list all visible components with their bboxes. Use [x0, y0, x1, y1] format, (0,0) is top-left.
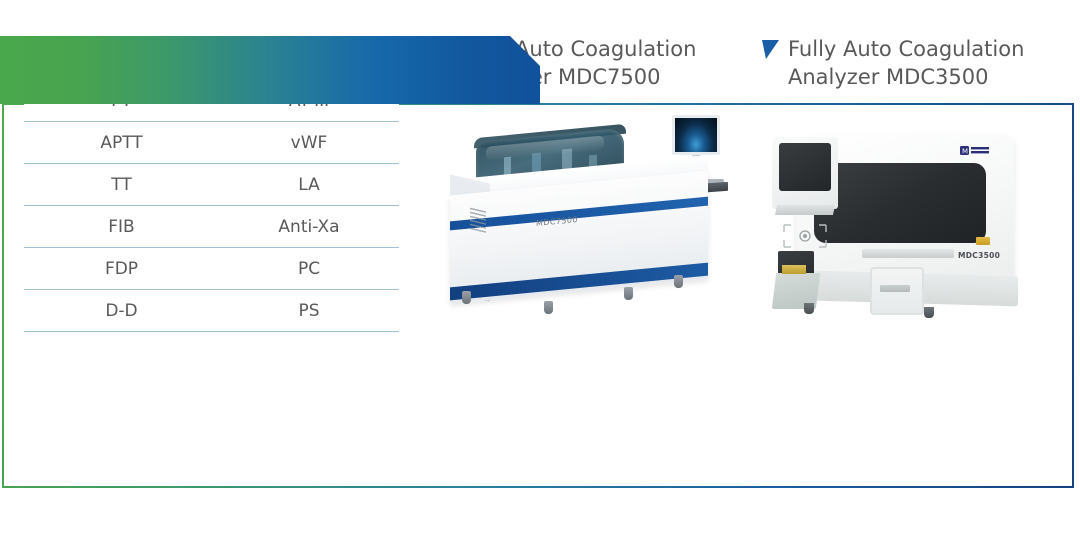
- cell-reagent: LA: [219, 175, 399, 195]
- model-label: MDC3500: [958, 251, 1000, 260]
- monitor-screen-icon: [672, 115, 720, 155]
- cell-coagulation: FDP: [24, 259, 219, 279]
- cell-reagent: Anti-Xa: [219, 217, 399, 237]
- front-door-panel: [814, 163, 986, 243]
- caster-wheel: [624, 287, 633, 300]
- tray-label: [782, 265, 806, 274]
- door-handle: [862, 249, 954, 258]
- cell-coagulation: APTT: [24, 133, 219, 153]
- console-screen-icon: [779, 143, 831, 191]
- table-row: FDP PC: [24, 248, 399, 290]
- table-row: APTT vWF: [24, 122, 399, 164]
- table-row: TT LA: [24, 164, 399, 206]
- caster-wheel: [544, 301, 553, 314]
- blue-flag-icon: [762, 40, 780, 67]
- cell-reagent: PC: [219, 259, 399, 279]
- console-base: [775, 205, 835, 215]
- control-keypad: [782, 223, 828, 249]
- cell-coagulation: TT: [24, 175, 219, 195]
- table-row: D-D PS: [24, 290, 399, 332]
- cell-coagulation: FIB: [24, 217, 219, 237]
- cell-reagent: PS: [219, 301, 399, 321]
- mdc7500-analyzer-photo: MDC7500: [434, 105, 734, 323]
- product-card-mdc3500: Fully Auto Coagulation Analyzer MDC3500 …: [762, 36, 1067, 323]
- product-heading: Fully Auto Coagulation Analyzer MDC3500: [762, 36, 1067, 91]
- brand-logo: M: [960, 144, 990, 156]
- product-title: Fully Auto Coagulation Analyzer MDC3500: [788, 36, 1067, 91]
- support-foot: [804, 303, 814, 314]
- cell-reagent: vWF: [219, 133, 399, 153]
- mdc3500-analyzer-photo: M MDC3500: [762, 105, 1067, 323]
- cell-coagulation: D-D: [24, 301, 219, 321]
- caster-wheel: [674, 275, 683, 288]
- table-row: FIB Anti-Xa: [24, 206, 399, 248]
- support-foot: [924, 307, 934, 318]
- warning-label: [976, 237, 990, 245]
- svg-text:M: M: [962, 148, 968, 156]
- caster-wheel: [462, 291, 471, 304]
- page-banner: [0, 36, 540, 104]
- side-label-sticker: [470, 208, 486, 234]
- drawer-slot: [880, 285, 910, 292]
